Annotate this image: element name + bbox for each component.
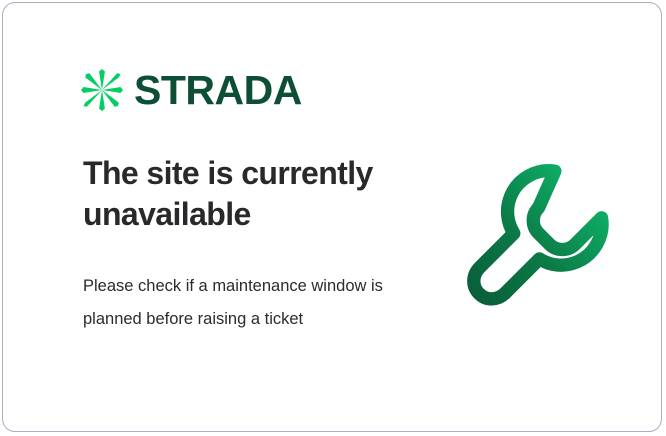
starburst-asterisk-icon [81,69,123,111]
maintenance-illustration [458,158,613,313]
brand-lockup: STRADA [81,69,302,111]
page-title: The site is currently unavailable [83,153,413,235]
error-page: STRADA The site is currently unavailable… [0,0,666,436]
page-description: Please check if a maintenance window is … [83,270,393,336]
brand-wordmark: STRADA [134,70,302,111]
page-card: STRADA The site is currently unavailable… [2,2,662,432]
wrench-icon [458,158,613,313]
